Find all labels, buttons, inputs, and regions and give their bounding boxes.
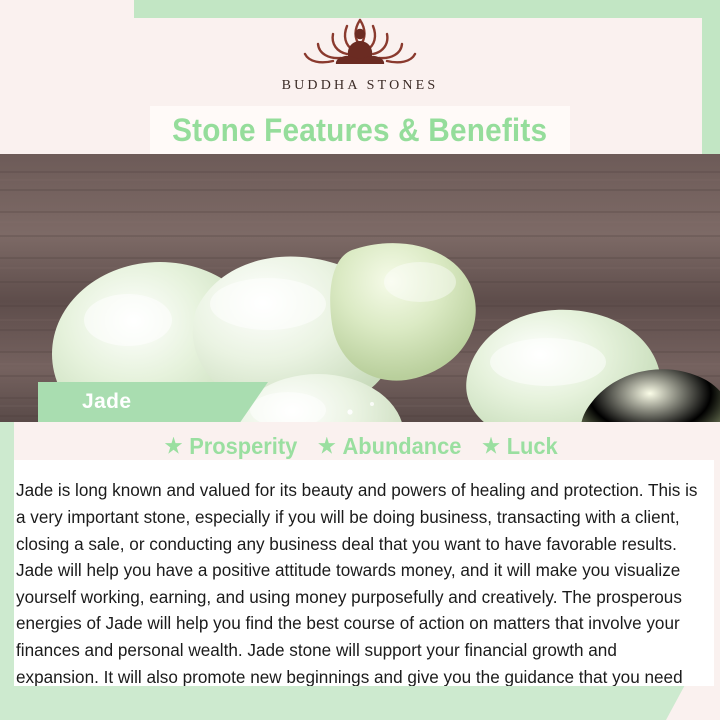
benefit-item-prosperity: Prosperity bbox=[164, 433, 297, 460]
description-text: Jade is long known and valued for its be… bbox=[16, 477, 700, 716]
frame-accent-left-text bbox=[0, 422, 14, 700]
benefit-item-abundance: Abundance bbox=[318, 433, 462, 460]
frame-accent-bottom bbox=[0, 686, 700, 720]
jade-stones-illustration bbox=[0, 154, 720, 422]
star-icon bbox=[318, 437, 336, 456]
benefit-label: Prosperity bbox=[189, 433, 297, 460]
benefit-item-luck: Luck bbox=[482, 433, 558, 460]
lotus-meditation-icon bbox=[285, 12, 435, 74]
page-title: Stone Features & Benefits bbox=[172, 112, 547, 149]
benefit-label: Abundance bbox=[343, 433, 462, 460]
stone-name-banner: Jade bbox=[38, 382, 268, 422]
stone-photo bbox=[0, 154, 720, 422]
benefits-row: Prosperity Abundance Luck bbox=[0, 430, 720, 462]
infographic-page: BUDDHA STONES Stone Features & Benefits bbox=[0, 0, 720, 720]
brand-name: BUDDHA STONES bbox=[282, 78, 439, 94]
star-icon bbox=[482, 437, 500, 456]
stone-name-label: Jade bbox=[82, 390, 131, 414]
star-icon bbox=[164, 437, 182, 456]
description-panel: Jade is long known and valued for its be… bbox=[14, 460, 714, 700]
benefit-label: Luck bbox=[506, 433, 557, 460]
brand-logo: BUDDHA STONES bbox=[0, 12, 720, 94]
brand-header: BUDDHA STONES bbox=[0, 0, 720, 108]
page-title-band: Stone Features & Benefits bbox=[150, 106, 570, 154]
